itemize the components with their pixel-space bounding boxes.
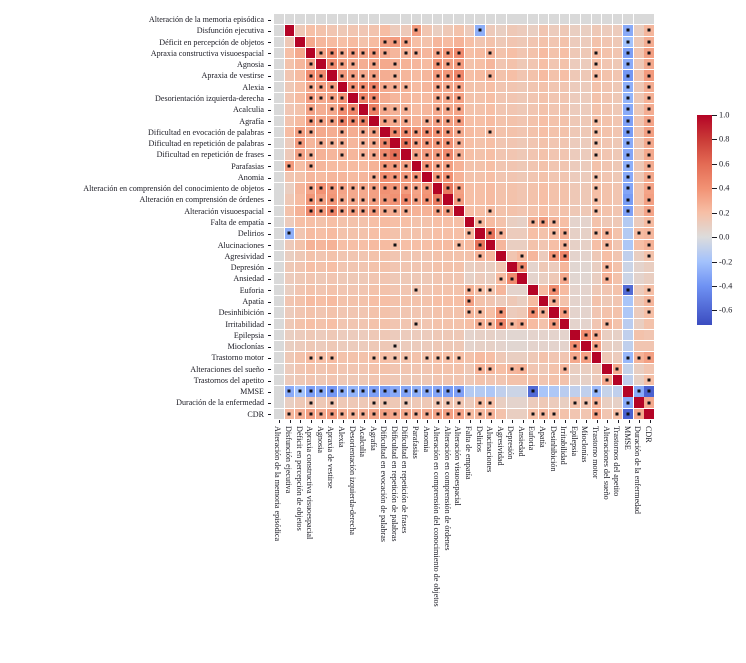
heatmap-cell[interactable] [465,149,475,159]
heatmap-cell[interactable] [634,397,644,407]
heatmap-cell[interactable] [433,330,443,340]
heatmap-cell[interactable] [338,251,348,261]
heatmap-cell[interactable] [433,93,443,103]
heatmap-cell[interactable] [602,59,612,69]
heatmap-cell[interactable] [623,251,633,261]
heatmap-cell[interactable] [517,82,527,92]
heatmap-cell[interactable] [348,59,358,69]
heatmap-cell[interactable] [613,14,623,24]
heatmap-cell[interactable] [644,14,654,24]
heatmap-cell[interactable] [623,341,633,351]
heatmap-cell[interactable] [390,319,400,329]
heatmap-cell[interactable] [623,70,633,80]
heatmap-cell[interactable] [412,183,422,193]
heatmap-cell[interactable] [644,409,654,419]
heatmap-cell[interactable] [539,149,549,159]
heatmap-cell[interactable] [401,138,411,148]
heatmap-cell[interactable] [549,14,559,24]
heatmap-cell[interactable] [475,161,485,171]
heatmap-cell[interactable] [380,127,390,137]
heatmap-cell[interactable] [380,352,390,362]
heatmap-cell[interactable] [560,194,570,204]
heatmap-cell[interactable] [465,319,475,329]
heatmap-cell[interactable] [327,93,337,103]
heatmap-cell[interactable] [295,262,305,272]
heatmap-cell[interactable] [517,138,527,148]
heatmap-cell[interactable] [295,93,305,103]
heatmap-cell[interactable] [422,70,432,80]
heatmap-cell[interactable] [454,104,464,114]
heatmap-cell[interactable] [359,127,369,137]
heatmap-cell[interactable] [581,341,591,351]
heatmap-cell[interactable] [306,352,316,362]
heatmap-cell[interactable] [592,104,602,114]
heatmap-cell[interactable] [634,183,644,193]
heatmap-cell[interactable] [539,285,549,295]
heatmap-cell[interactable] [348,217,358,227]
heatmap-cell[interactable] [359,70,369,80]
heatmap-cell[interactable] [475,127,485,137]
heatmap-cell[interactable] [274,59,284,69]
heatmap-cell[interactable] [496,273,506,283]
heatmap-cell[interactable] [486,341,496,351]
heatmap-cell[interactable] [570,183,580,193]
heatmap-cell[interactable] [539,48,549,58]
heatmap-cell[interactable] [422,330,432,340]
heatmap-cell[interactable] [348,206,358,216]
heatmap-cell[interactable] [570,82,580,92]
heatmap-cell[interactable] [644,37,654,47]
heatmap-cell[interactable] [359,172,369,182]
heatmap-cell[interactable] [433,48,443,58]
heatmap-cell[interactable] [274,217,284,227]
heatmap-cell[interactable] [285,307,295,317]
heatmap-cell[interactable] [412,104,422,114]
heatmap-cell[interactable] [380,386,390,396]
heatmap-cell[interactable] [285,149,295,159]
heatmap-cell[interactable] [443,341,453,351]
heatmap-cell[interactable] [581,172,591,182]
heatmap-cell[interactable] [602,14,612,24]
heatmap-cell[interactable] [528,82,538,92]
heatmap-cell[interactable] [549,172,559,182]
heatmap-cell[interactable] [338,386,348,396]
heatmap-cell[interactable] [602,70,612,80]
heatmap-cell[interactable] [539,37,549,47]
heatmap-cell[interactable] [592,48,602,58]
heatmap-cell[interactable] [475,172,485,182]
heatmap-cell[interactable] [539,330,549,340]
heatmap-cell[interactable] [454,409,464,419]
heatmap-cell[interactable] [623,307,633,317]
heatmap-cell[interactable] [285,341,295,351]
heatmap-cell[interactable] [285,386,295,396]
heatmap-cell[interactable] [539,296,549,306]
heatmap-cell[interactable] [581,161,591,171]
heatmap-cell[interactable] [285,364,295,374]
heatmap-cell[interactable] [486,285,496,295]
heatmap-cell[interactable] [359,386,369,396]
heatmap-cell[interactable] [316,149,326,159]
heatmap-cell[interactable] [369,82,379,92]
heatmap-cell[interactable] [433,319,443,329]
heatmap-cell[interactable] [433,194,443,204]
heatmap-cell[interactable] [412,273,422,283]
heatmap-cell[interactable] [274,352,284,362]
heatmap-cell[interactable] [390,240,400,250]
heatmap-cell[interactable] [465,386,475,396]
heatmap-cell[interactable] [401,217,411,227]
heatmap-cell[interactable] [433,364,443,374]
heatmap-cell[interactable] [369,116,379,126]
heatmap-cell[interactable] [592,149,602,159]
heatmap-cell[interactable] [380,37,390,47]
heatmap-cell[interactable] [443,296,453,306]
heatmap-cell[interactable] [401,364,411,374]
heatmap-cell[interactable] [306,149,316,159]
heatmap-cell[interactable] [443,319,453,329]
heatmap-cell[interactable] [306,341,316,351]
heatmap-cell[interactable] [613,285,623,295]
heatmap-cell[interactable] [634,37,644,47]
heatmap-cell[interactable] [613,364,623,374]
heatmap-cell[interactable] [475,375,485,385]
heatmap-cell[interactable] [486,409,496,419]
heatmap-cell[interactable] [613,127,623,137]
heatmap-cell[interactable] [539,194,549,204]
heatmap-cell[interactable] [486,194,496,204]
heatmap-cell[interactable] [549,206,559,216]
heatmap-cell[interactable] [401,341,411,351]
heatmap-cell[interactable] [486,161,496,171]
heatmap-cell[interactable] [623,149,633,159]
heatmap-cell[interactable] [465,48,475,58]
heatmap-cell[interactable] [348,307,358,317]
heatmap-cell[interactable] [338,341,348,351]
heatmap-cell[interactable] [581,262,591,272]
heatmap-cell[interactable] [359,319,369,329]
heatmap-cell[interactable] [306,307,316,317]
heatmap-cell[interactable] [486,330,496,340]
heatmap-cell[interactable] [348,25,358,35]
heatmap-cell[interactable] [560,262,570,272]
heatmap-cell[interactable] [454,251,464,261]
heatmap-cell[interactable] [433,352,443,362]
heatmap-cell[interactable] [306,138,316,148]
heatmap-cell[interactable] [327,409,337,419]
heatmap-cell[interactable] [475,409,485,419]
heatmap-cell[interactable] [517,228,527,238]
heatmap-cell[interactable] [560,409,570,419]
heatmap-cell[interactable] [433,386,443,396]
heatmap-cell[interactable] [613,161,623,171]
heatmap-cell[interactable] [348,116,358,126]
heatmap-cell[interactable] [433,59,443,69]
heatmap-cell[interactable] [316,397,326,407]
heatmap-cell[interactable] [327,273,337,283]
heatmap-cell[interactable] [560,319,570,329]
heatmap-cell[interactable] [475,25,485,35]
heatmap-cell[interactable] [549,375,559,385]
heatmap-cell[interactable] [401,127,411,137]
heatmap-cell[interactable] [465,82,475,92]
heatmap-cell[interactable] [327,183,337,193]
heatmap-cell[interactable] [369,319,379,329]
heatmap-cell[interactable] [390,251,400,261]
heatmap-cell[interactable] [465,262,475,272]
heatmap-cell[interactable] [295,172,305,182]
heatmap-cell[interactable] [285,273,295,283]
heatmap-cell[interactable] [634,341,644,351]
heatmap-cell[interactable] [517,183,527,193]
heatmap-cell[interactable] [613,82,623,92]
heatmap-cell[interactable] [581,307,591,317]
heatmap-cell[interactable] [496,37,506,47]
heatmap-cell[interactable] [306,183,316,193]
heatmap-cell[interactable] [465,341,475,351]
heatmap-cell[interactable] [602,82,612,92]
heatmap-cell[interactable] [274,375,284,385]
heatmap-cell[interactable] [602,273,612,283]
heatmap-cell[interactable] [581,206,591,216]
heatmap-cell[interactable] [433,341,443,351]
heatmap-cell[interactable] [338,206,348,216]
heatmap-cell[interactable] [422,217,432,227]
heatmap-cell[interactable] [613,217,623,227]
heatmap-cell[interactable] [602,330,612,340]
heatmap-cell[interactable] [644,341,654,351]
heatmap-cell[interactable] [390,386,400,396]
heatmap-cell[interactable] [380,228,390,238]
heatmap-cell[interactable] [592,70,602,80]
heatmap-cell[interactable] [528,14,538,24]
heatmap-cell[interactable] [592,206,602,216]
heatmap-cell[interactable] [316,262,326,272]
heatmap-cell[interactable] [528,375,538,385]
heatmap-cell[interactable] [549,82,559,92]
heatmap-cell[interactable] [486,59,496,69]
heatmap-cell[interactable] [475,330,485,340]
heatmap-cell[interactable] [390,127,400,137]
heatmap-cell[interactable] [644,240,654,250]
heatmap-cell[interactable] [465,172,475,182]
heatmap-cell[interactable] [581,82,591,92]
heatmap-cell[interactable] [285,240,295,250]
heatmap-cell[interactable] [623,116,633,126]
heatmap-cell[interactable] [359,240,369,250]
heatmap-cell[interactable] [422,364,432,374]
heatmap-cell[interactable] [327,194,337,204]
heatmap-cell[interactable] [443,375,453,385]
heatmap-cell[interactable] [338,48,348,58]
heatmap-cell[interactable] [316,194,326,204]
heatmap-cell[interactable] [602,183,612,193]
heatmap-cell[interactable] [348,14,358,24]
heatmap-cell[interactable] [486,240,496,250]
heatmap-cell[interactable] [623,104,633,114]
heatmap-cell[interactable] [507,172,517,182]
heatmap-cell[interactable] [517,262,527,272]
heatmap-cell[interactable] [295,217,305,227]
colorbar[interactable] [697,115,712,325]
heatmap-cell[interactable] [390,93,400,103]
heatmap-cell[interactable] [348,127,358,137]
heatmap-cell[interactable] [422,37,432,47]
heatmap-cell[interactable] [422,194,432,204]
heatmap-cell[interactable] [570,319,580,329]
heatmap-cell[interactable] [623,319,633,329]
heatmap-cell[interactable] [390,228,400,238]
heatmap-cell[interactable] [412,364,422,374]
heatmap-cell[interactable] [348,149,358,159]
heatmap-cell[interactable] [507,149,517,159]
heatmap-cell[interactable] [306,82,316,92]
heatmap-cell[interactable] [369,183,379,193]
heatmap-cell[interactable] [285,375,295,385]
heatmap-cell[interactable] [359,82,369,92]
heatmap-cell[interactable] [295,364,305,374]
heatmap-cell[interactable] [433,172,443,182]
heatmap-cell[interactable] [443,104,453,114]
heatmap-cell[interactable] [433,217,443,227]
heatmap-cell[interactable] [338,59,348,69]
heatmap-cell[interactable] [517,104,527,114]
heatmap-cell[interactable] [613,341,623,351]
heatmap-cell[interactable] [613,149,623,159]
heatmap-cell[interactable] [369,228,379,238]
heatmap-cell[interactable] [369,138,379,148]
heatmap-cell[interactable] [581,138,591,148]
heatmap-cell[interactable] [380,59,390,69]
heatmap-cell[interactable] [486,116,496,126]
heatmap-cell[interactable] [507,37,517,47]
heatmap-cell[interactable] [295,25,305,35]
heatmap-cell[interactable] [634,228,644,238]
heatmap-cell[interactable] [517,251,527,261]
heatmap-cell[interactable] [528,217,538,227]
heatmap-cell[interactable] [496,127,506,137]
heatmap-cell[interactable] [623,240,633,250]
heatmap-cell[interactable] [507,82,517,92]
heatmap-cell[interactable] [348,330,358,340]
heatmap-cell[interactable] [306,127,316,137]
heatmap-cell[interactable] [433,161,443,171]
heatmap-cell[interactable] [454,386,464,396]
heatmap-cell[interactable] [560,375,570,385]
heatmap-cell[interactable] [401,149,411,159]
heatmap-cell[interactable] [465,330,475,340]
heatmap-cell[interactable] [539,59,549,69]
heatmap-cell[interactable] [443,397,453,407]
heatmap-cell[interactable] [443,228,453,238]
heatmap-cell[interactable] [380,14,390,24]
heatmap-cell[interactable] [454,37,464,47]
heatmap-cell[interactable] [348,352,358,362]
heatmap-cell[interactable] [327,138,337,148]
heatmap-cell[interactable] [496,341,506,351]
heatmap-cell[interactable] [517,37,527,47]
heatmap-cell[interactable] [507,59,517,69]
heatmap-cell[interactable] [327,296,337,306]
heatmap-cell[interactable] [634,240,644,250]
heatmap-cell[interactable] [570,307,580,317]
heatmap-cell[interactable] [422,25,432,35]
heatmap-cell[interactable] [359,375,369,385]
heatmap-cell[interactable] [560,82,570,92]
heatmap-cell[interactable] [475,37,485,47]
heatmap-cell[interactable] [348,319,358,329]
heatmap-cell[interactable] [475,386,485,396]
heatmap-cell[interactable] [634,319,644,329]
heatmap-cell[interactable] [549,228,559,238]
heatmap-cell[interactable] [306,104,316,114]
heatmap-cell[interactable] [549,161,559,171]
heatmap-cell[interactable] [348,251,358,261]
heatmap-cell[interactable] [285,397,295,407]
heatmap-cell[interactable] [581,240,591,250]
heatmap-cell[interactable] [528,330,538,340]
heatmap-cell[interactable] [338,93,348,103]
heatmap-cell[interactable] [401,397,411,407]
heatmap-cell[interactable] [634,296,644,306]
heatmap-cell[interactable] [412,352,422,362]
heatmap-cell[interactable] [401,172,411,182]
heatmap-cell[interactable] [486,251,496,261]
heatmap-cell[interactable] [549,127,559,137]
heatmap-cell[interactable] [602,397,612,407]
heatmap-cell[interactable] [443,251,453,261]
heatmap-cell[interactable] [443,93,453,103]
heatmap-cell[interactable] [475,228,485,238]
heatmap-cell[interactable] [570,116,580,126]
heatmap-cell[interactable] [433,296,443,306]
heatmap-cell[interactable] [613,70,623,80]
heatmap-cell[interactable] [348,48,358,58]
heatmap-cell[interactable] [454,352,464,362]
heatmap-cell[interactable] [507,127,517,137]
heatmap-cell[interactable] [412,330,422,340]
heatmap-cell[interactable] [316,116,326,126]
heatmap-cell[interactable] [539,262,549,272]
heatmap-cell[interactable] [390,194,400,204]
heatmap-cell[interactable] [401,319,411,329]
heatmap-cell[interactable] [507,375,517,385]
heatmap-cell[interactable] [369,330,379,340]
heatmap-cell[interactable] [634,251,644,261]
heatmap-cell[interactable] [295,59,305,69]
heatmap-cell[interactable] [390,217,400,227]
heatmap-cell[interactable] [412,319,422,329]
heatmap-cell[interactable] [390,59,400,69]
heatmap-cell[interactable] [486,206,496,216]
heatmap-cell[interactable] [613,194,623,204]
heatmap-cell[interactable] [327,161,337,171]
heatmap-cell[interactable] [295,104,305,114]
heatmap-cell[interactable] [274,138,284,148]
heatmap-cell[interactable] [327,319,337,329]
heatmap-cell[interactable] [528,364,538,374]
heatmap-cell[interactable] [517,194,527,204]
heatmap-cell[interactable] [560,37,570,47]
heatmap-cell[interactable] [454,82,464,92]
heatmap-cell[interactable] [465,194,475,204]
heatmap-cell[interactable] [465,352,475,362]
heatmap-cell[interactable] [613,307,623,317]
heatmap-cell[interactable] [613,386,623,396]
heatmap-cell[interactable] [348,375,358,385]
heatmap-cell[interactable] [528,93,538,103]
heatmap-cell[interactable] [592,93,602,103]
